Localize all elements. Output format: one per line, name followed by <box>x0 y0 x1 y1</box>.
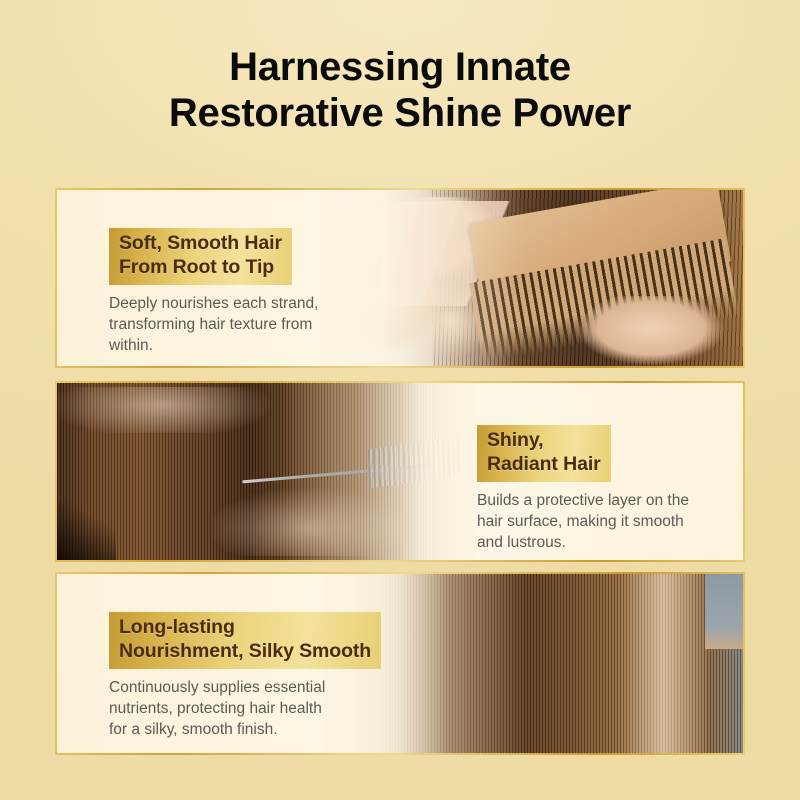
feature-card-soft-smooth-hair: Soft, Smooth Hair From Root to Tip Deepl… <box>55 188 745 368</box>
second-hand-shape <box>567 296 735 366</box>
feature-text-block-2: Shiny, Radiant Hair Builds a protective … <box>477 425 745 562</box>
feature-card-shiny-radiant-hair: Shiny, Radiant Hair Builds a protective … <box>55 381 745 562</box>
feature-body-1: Deeply nourishes each strand, transformi… <box>109 293 389 356</box>
page-title-line-1: Harnessing Innate <box>0 44 800 90</box>
feature-text-block-1: Soft, Smooth Hair From Root to Tip Deepl… <box>109 228 389 368</box>
hair-gloss-highlight-top <box>57 387 317 433</box>
promo-poster: Harnessing Innate Restorative Shine Powe… <box>0 0 800 800</box>
page-title-line-2: Restorative Shine Power <box>0 90 800 136</box>
feature-headline-3: Long-lasting Nourishment, Silky Smooth <box>109 612 381 669</box>
feature-headline-2: Shiny, Radiant Hair <box>477 425 611 482</box>
photo-shiny-hair <box>57 383 477 560</box>
feature-text-block-3: Long-lasting Nourishment, Silky Smooth C… <box>109 612 444 755</box>
feature-card-long-lasting-nourishment: Long-lasting Nourishment, Silky Smooth C… <box>55 572 745 755</box>
hair-gloss-highlight-right <box>617 574 709 753</box>
feature-body-2: Builds a protective layer on the hair su… <box>477 490 745 553</box>
page-title: Harnessing Innate Restorative Shine Powe… <box>0 44 800 137</box>
feature-image-tail-comb <box>57 383 477 560</box>
feature-headline-1: Soft, Smooth Hair From Root to Tip <box>109 228 292 285</box>
background-sky-patch <box>705 574 743 649</box>
hair-gloss-highlight-bottom <box>200 486 435 557</box>
dark-shadow-corner <box>57 500 116 560</box>
feature-body-3: Continuously supplies essential nutrient… <box>109 677 444 740</box>
